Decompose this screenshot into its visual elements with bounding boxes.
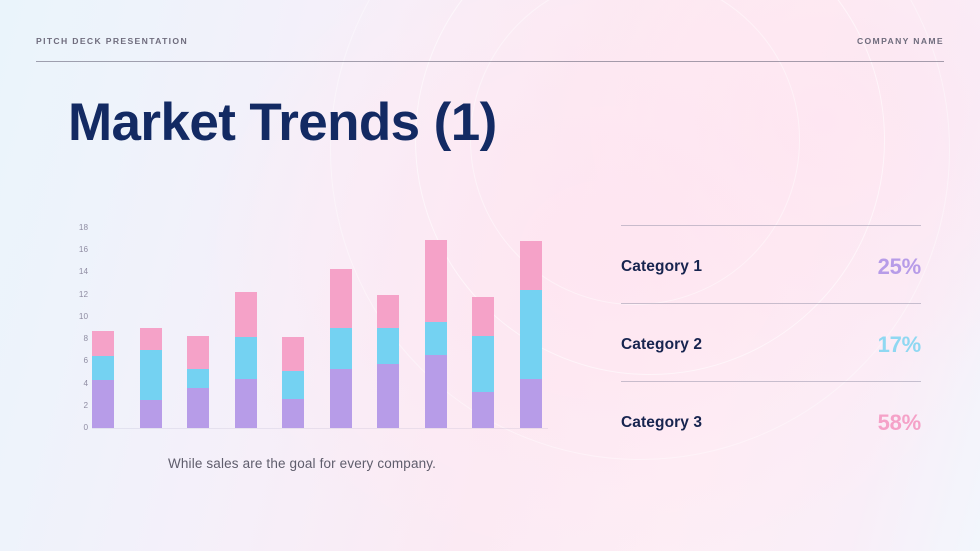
y-axis-tick: 0 — [64, 424, 88, 432]
y-axis-tick: 14 — [64, 268, 88, 276]
legend-divider — [621, 225, 921, 226]
chart-plot-area — [92, 228, 560, 428]
chart-y-axis: 024681012141618 — [60, 228, 88, 428]
y-axis-tick: 18 — [64, 224, 88, 232]
chart-caption: While sales are the goal for every compa… — [168, 456, 436, 471]
category-row[interactable]: Category 358% — [621, 403, 921, 443]
category-percentage: 25% — [878, 254, 921, 280]
bar-segment-category-3 — [472, 297, 494, 336]
bar-segment-category-2 — [140, 350, 162, 400]
chart-baseline — [92, 428, 548, 429]
bar-7[interactable] — [377, 295, 399, 428]
bar-segment-category-1 — [187, 388, 209, 428]
category-label: Category 1 — [621, 258, 702, 276]
bar-segment-category-3 — [377, 295, 399, 328]
bar-segment-category-2 — [187, 369, 209, 388]
bar-8[interactable] — [425, 240, 447, 428]
bar-segment-category-2 — [92, 356, 114, 380]
category-percentage: 58% — [878, 410, 921, 436]
y-axis-tick: 12 — [64, 291, 88, 299]
bar-segment-category-1 — [235, 379, 257, 428]
category-label: Category 2 — [621, 336, 702, 354]
bar-segment-category-3 — [425, 240, 447, 322]
bar-segment-category-1 — [330, 369, 352, 428]
bar-segment-category-1 — [520, 379, 542, 428]
category-label: Category 3 — [621, 414, 702, 432]
y-axis-tick: 8 — [64, 335, 88, 343]
bar-segment-category-2 — [425, 322, 447, 354]
bar-1[interactable] — [92, 331, 114, 428]
bar-segment-category-2 — [472, 336, 494, 393]
stacked-bar-chart: 024681012141618 — [60, 228, 560, 440]
bar-segment-category-2 — [282, 371, 304, 399]
bar-segment-category-3 — [92, 331, 114, 355]
bar-segment-category-3 — [520, 241, 542, 290]
bar-segment-category-2 — [235, 337, 257, 379]
category-percentage: 17% — [878, 332, 921, 358]
bar-segment-category-1 — [377, 364, 399, 428]
bar-segment-category-3 — [235, 292, 257, 336]
legend-divider — [621, 381, 921, 382]
bar-segment-category-1 — [425, 355, 447, 428]
bar-segment-category-1 — [472, 392, 494, 428]
slide-canvas: PITCH DECK PRESENTATION COMPANY NAME Mar… — [0, 0, 980, 551]
bar-6[interactable] — [330, 269, 352, 428]
bar-segment-category-3 — [330, 269, 352, 328]
company-name-label: COMPANY NAME — [857, 36, 944, 46]
bar-segment-category-1 — [140, 400, 162, 428]
y-axis-tick: 10 — [64, 313, 88, 321]
bar-4[interactable] — [235, 292, 257, 428]
bar-segment-category-1 — [92, 380, 114, 428]
bar-9[interactable] — [472, 297, 494, 428]
bar-segment-category-1 — [282, 399, 304, 428]
bar-segment-category-2 — [520, 290, 542, 379]
y-axis-tick: 16 — [64, 246, 88, 254]
bar-segment-category-2 — [330, 328, 352, 369]
bar-3[interactable] — [187, 336, 209, 428]
category-summary-panel: Category 125%Category 217%Category 358% — [621, 225, 921, 445]
bar-segment-category-3 — [140, 328, 162, 350]
category-row[interactable]: Category 125% — [621, 247, 921, 287]
category-row[interactable]: Category 217% — [621, 325, 921, 365]
y-axis-tick: 2 — [64, 402, 88, 410]
bar-10[interactable] — [520, 241, 542, 428]
bar-segment-category-3 — [187, 336, 209, 369]
bar-2[interactable] — [140, 328, 162, 428]
bar-segment-category-3 — [282, 337, 304, 371]
y-axis-tick: 4 — [64, 380, 88, 388]
header-divider — [36, 61, 944, 62]
legend-divider — [621, 303, 921, 304]
page-title: Market Trends (1) — [68, 92, 497, 153]
pitch-deck-label: PITCH DECK PRESENTATION — [36, 36, 188, 46]
y-axis-tick: 6 — [64, 357, 88, 365]
bar-segment-category-2 — [377, 328, 399, 364]
bar-5[interactable] — [282, 337, 304, 428]
